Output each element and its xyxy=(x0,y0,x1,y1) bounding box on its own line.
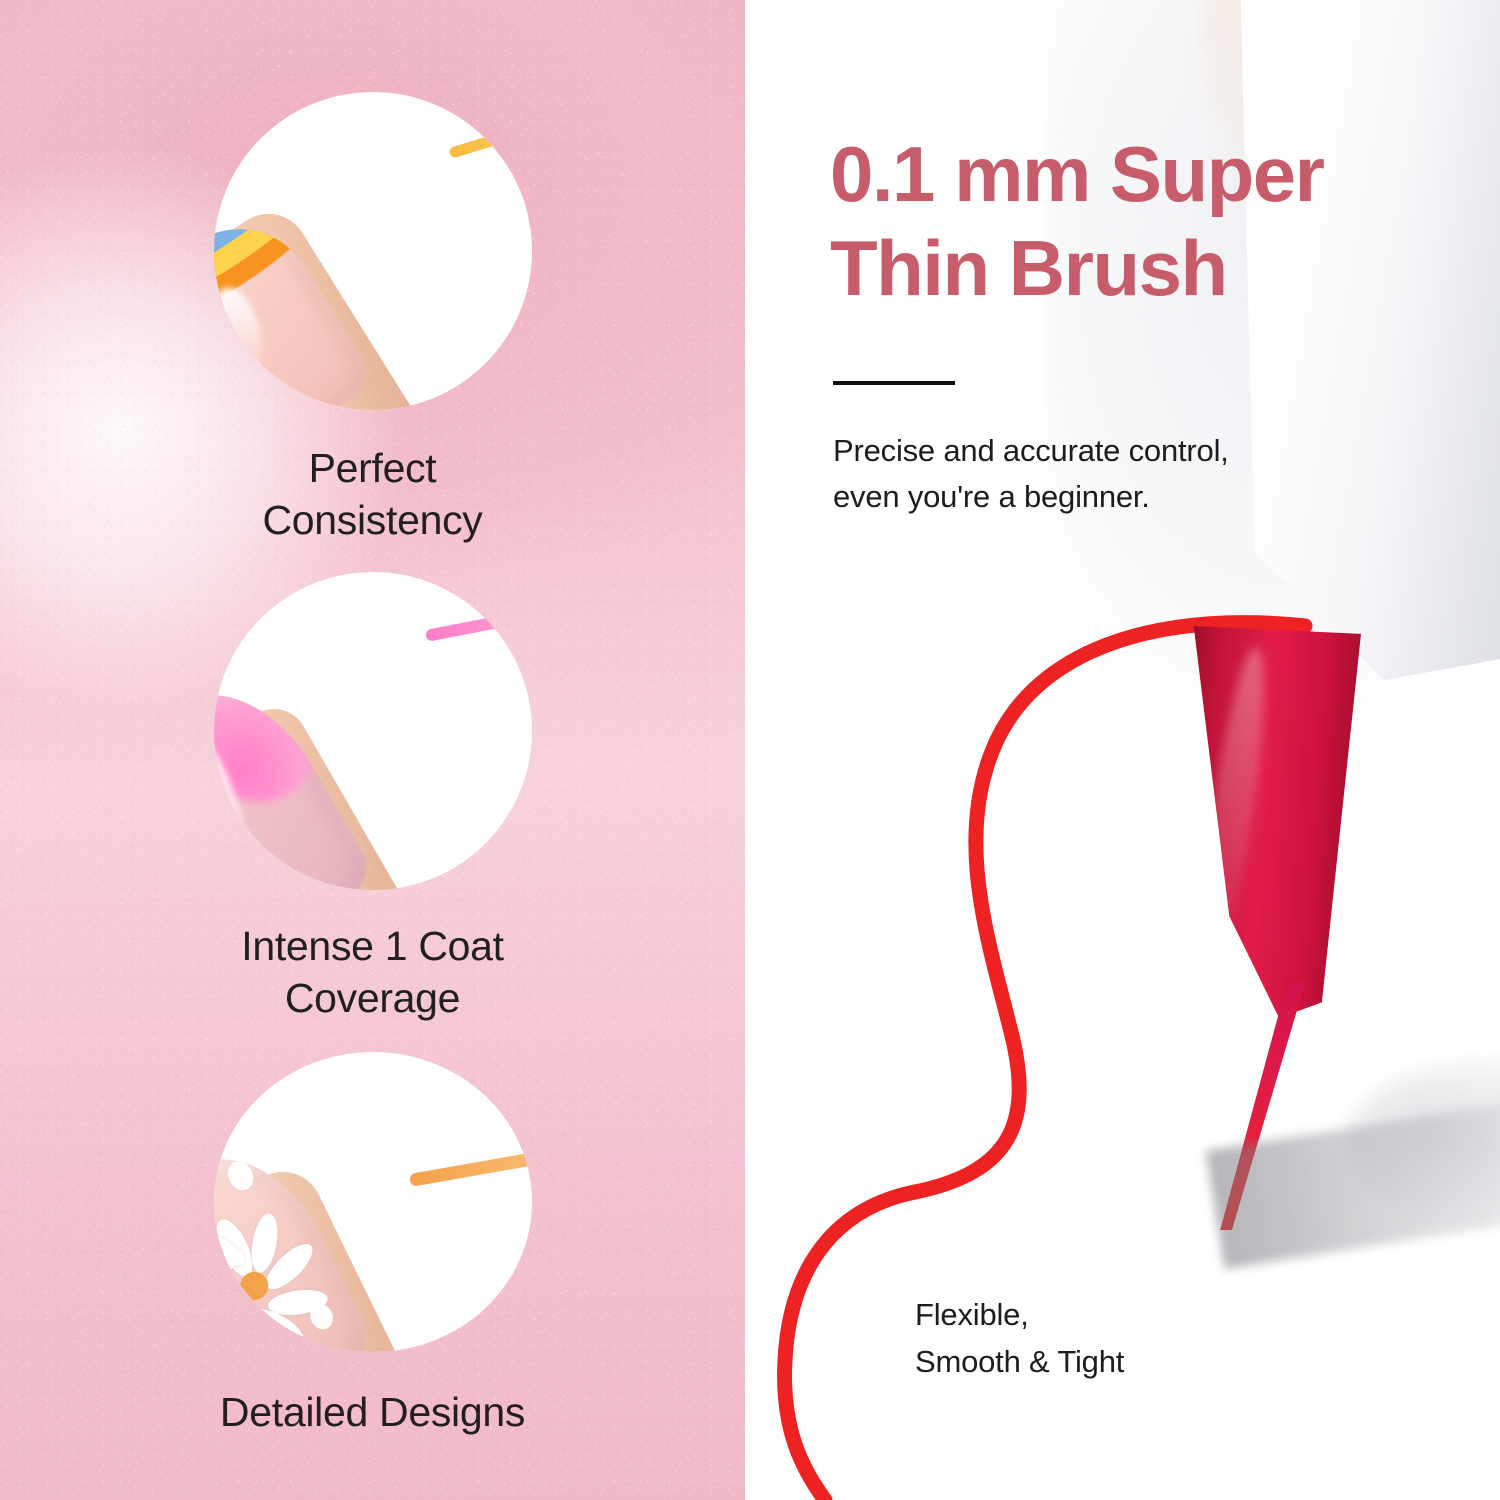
nail-gloss-highlight xyxy=(214,282,271,386)
feature-label-perfect-consistency: Perfect Consistency xyxy=(0,442,745,547)
feature-perfect-consistency: Perfect Consistency xyxy=(0,92,745,547)
nail-plate xyxy=(214,200,377,410)
brush-caption-text: Flexible, Smooth & Tight xyxy=(915,1292,1315,1385)
page-title: 0.1 mm Super Thin Brush xyxy=(830,128,1470,315)
daisy-flower-icon xyxy=(214,1184,356,1352)
brush-stroke-yellow-icon xyxy=(448,99,532,159)
feature-detailed-designs: Detailed Designs xyxy=(0,1052,745,1438)
finger-illustration xyxy=(214,199,423,410)
feature-image-glossy-nail xyxy=(214,572,532,890)
finger-illustration xyxy=(214,1159,424,1352)
nail-plate xyxy=(214,663,378,890)
brush-stroke-pink-icon xyxy=(424,594,531,642)
brush-stroke-orange-icon xyxy=(408,1140,531,1187)
feature-label-intense-coverage: Intense 1 Coat Coverage xyxy=(0,920,745,1025)
feature-image-rainbow-nail xyxy=(214,92,532,410)
product-feature-image: Perfect Consistency Intense 1 Coat Cover… xyxy=(0,0,1500,1500)
feature-intense-coverage: Intense 1 Coat Coverage xyxy=(0,572,745,1025)
subtitle-text: Precise and accurate control, even you'r… xyxy=(833,428,1393,520)
feature-label-detailed-designs: Detailed Designs xyxy=(0,1386,745,1438)
title-divider-rule xyxy=(833,381,955,385)
finger-illustration xyxy=(214,697,419,890)
nail-plate xyxy=(214,1130,376,1352)
feature-image-daisy-nail xyxy=(214,1052,532,1352)
left-features-panel: Perfect Consistency Intense 1 Coat Cover… xyxy=(0,0,745,1500)
right-product-panel: 0.1 mm Super Thin Brush Precise and accu… xyxy=(745,0,1500,1500)
